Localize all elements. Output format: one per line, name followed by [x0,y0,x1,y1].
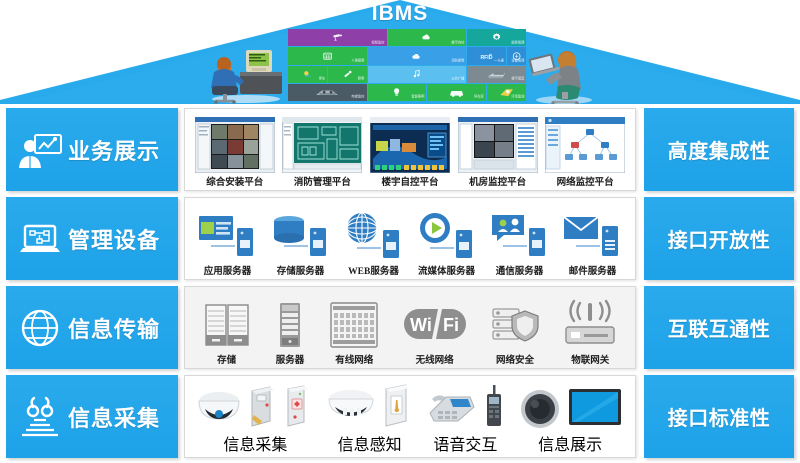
device-set [518,377,623,431]
sidebar-item-business-display[interactable]: 业务展示 [6,108,178,191]
person-with-laptop-illustration [520,42,604,104]
item-caption: 存储 [217,352,236,366]
item-caption: 网络安全 [496,352,534,366]
item-art [343,210,405,262]
tile-fire-alarm[interactable]: 消防报警 [368,47,467,64]
svg-text:Fi: Fi [443,315,459,335]
desk-phone-icon [426,383,478,431]
cloud-fill-icon [387,51,446,61]
group-voice-interaction[interactable]: 语音交互 [426,377,505,455]
panel-business-display: 综合安装平台 [184,108,636,191]
tile-building-automation[interactable]: 楼宇自控 [388,29,467,46]
tile-device-management[interactable]: 设备管理 [507,47,526,64]
item-caption: 服务器 [276,352,305,366]
device-set [426,377,505,431]
tile-label: 照明 [358,79,364,82]
layer-row-information-transmission: 信息传输 [0,286,800,369]
laptop-network-icon [16,215,64,263]
tile-building-model[interactable]: 楼宇模型 [467,66,526,83]
feature-card-standard-interface[interactable]: 接口标准性 [644,375,794,458]
layer-row-information-collection: 信息采集 [0,375,800,458]
group-caption: 信息展示 [538,431,602,455]
item-caption: 综合安装平台 [206,174,263,188]
building-icon [479,69,514,79]
item-caption: 存储服务器 [277,263,325,277]
dome-camera-icon [197,383,241,431]
item-caption: 有线网络 [335,352,373,366]
item-datacenter-monitoring-platform[interactable]: 机房监控平台 [458,113,538,188]
tile-label: 停车 [318,79,324,82]
tile-label: 电梯监控 [352,97,365,100]
tile-smart-lighting[interactable]: 智能照明 [368,84,427,101]
database-cylinder-icon [270,210,332,262]
tile-video-surveillance[interactable]: 视频监控 [288,29,387,46]
item-art [489,299,541,351]
smoke-detector-icon [326,383,376,431]
feature-label: 高度集成性 [668,135,771,164]
parking-icon [296,69,319,79]
tile-parking-garage[interactable]: 停车库 [427,84,486,101]
group-caption: 语音交互 [433,431,497,455]
item-art [416,210,478,262]
item-caption: 应用服务器 [204,263,252,277]
tile-intrusion-alarm[interactable]: 人侵报警 [288,47,367,64]
feature-card-open-interface[interactable]: 接口开放性 [644,197,794,280]
tile-energy-management[interactable]: 能耗管理 [467,29,526,46]
tile-one-card[interactable]: RFID 一卡通 [467,47,506,64]
item-wired-network[interactable]: 有线网络 [328,291,380,366]
item-art [270,210,332,262]
item-caption: WEB服务器 [348,263,399,277]
tile-label: 人侵报警 [352,60,365,63]
item-caption: 网络监控平台 [557,174,614,188]
item-art [545,117,625,173]
item-iot-gateway[interactable]: 物联网关 [562,291,618,366]
datacenter-screenshot [458,117,538,173]
tile-environment-monitoring[interactable]: 环境监测 [487,84,526,101]
group-information-collection[interactable]: 信息采集 [197,377,313,455]
globe-icon [343,210,405,262]
item-caption: 机房监控平台 [469,174,526,188]
group-caption: 信息采集 [223,431,287,455]
envelope-icon [562,210,624,262]
gear-icon [479,32,514,42]
svg-text:RFID: RFID [480,54,492,60]
tile-parking[interactable]: 停车 [288,66,327,83]
device-set [326,377,413,431]
tile-label: 智能照明 [411,97,424,100]
group-caption: 信息感知 [338,431,402,455]
sidebar-item-label: 管理设备 [68,223,160,255]
item-art [202,299,252,351]
item-caption: 楼宇自控平台 [381,174,438,188]
panel-information-collection: 信息采集 [184,375,636,458]
tile-lighting[interactable]: 照明 [328,66,367,83]
group-information-display[interactable]: 信息展示 [518,377,623,455]
layer-row-business-display: 业务展示 [0,108,800,191]
item-caption: 邮件服务器 [569,263,617,277]
card-reader-icon [246,383,278,431]
item-caption: 流媒体服务器 [418,263,475,277]
tile-label: 公共广播 [451,79,464,82]
item-network-security[interactable]: 网络安全 [489,291,541,366]
tile-elevator-monitoring[interactable]: 电梯监控 [288,84,367,101]
tile-label: 楼宇自控 [451,42,464,45]
shield-server-icon [489,299,541,351]
escalator-icon [304,87,351,97]
video-wall-screenshot [195,117,275,173]
item-caption: 消防管理平台 [294,174,351,188]
camera-icon [308,32,367,42]
item-caption: 无线网络 [416,352,454,366]
car-icon [439,87,474,97]
person-at-desktop-computer-illustration [192,42,288,104]
gateway-antenna-icon [562,299,618,351]
light-icon [336,69,359,79]
network-topology-screenshot [545,117,625,173]
application-window-icon [197,210,259,262]
item-art [458,117,538,173]
panel-management-devices: 应用服务器 存储服务器 [184,197,636,280]
feature-label: 接口标准性 [668,402,771,431]
feature-label: 接口开放性 [668,224,771,253]
tile-label: 楼宇模型 [511,79,524,82]
tile-label: 停车库 [474,97,484,100]
tile-label: 消防报警 [451,60,464,63]
layers-grid: 业务展示 [0,106,800,463]
item-communication-server[interactable]: 通信服务器 [489,202,551,277]
globe-grid-icon [16,304,64,352]
item-fire-management-platform[interactable]: 消防管理平台 [282,113,362,188]
server-tower-icon [273,299,307,351]
cloud-icon [403,32,450,42]
display-monitor-icon [567,383,623,431]
sidebar-item-label: 业务展示 [68,134,160,166]
tile-public-broadcast[interactable]: 公共广播 [368,66,467,83]
layer-row-management-devices: 管理设备 应用服务器 [0,197,800,280]
sidebar-item-management-devices[interactable]: 管理设备 [6,197,178,280]
sidebar-item-information-collection[interactable]: 信息采集 [6,375,178,458]
svg-text:Wi: Wi [410,315,432,335]
sidebar-item-information-transmission[interactable]: 信息传输 [6,286,178,369]
switch-rack-icon [328,299,380,351]
item-caption: 通信服务器 [496,263,544,277]
item-art [282,117,362,173]
roof-banner: IBMS [0,0,800,104]
tile-label: 设备管理 [511,60,524,63]
music-icon [387,69,446,79]
panel-information-transmission: 存储 服务器 [184,286,636,369]
storage-array-icon [202,299,252,351]
item-integrated-installation-platform[interactable]: 综合安装平台 [195,113,275,188]
fire-cad-screenshot [282,117,362,173]
grid-icon [304,51,351,61]
speaker-icon [518,383,562,431]
tile-label: 视频监控 [372,42,385,45]
emergency-button-icon [283,383,313,431]
item-art: Wi Fi [402,299,468,351]
item-storage[interactable]: 存储 [202,291,252,366]
item-art [195,117,275,173]
item-web-server[interactable]: WEB服务器 [343,202,405,277]
play-circle-icon [416,210,478,262]
bulb-icon [379,87,414,97]
item-wireless-network[interactable]: Wi Fi 无线网络 [402,291,468,366]
sidebar-item-label: 信息传输 [68,312,160,344]
item-art [489,210,551,262]
item-caption: 物联网关 [571,352,609,366]
application-tile-grid: 视频监控 楼宇自控 能耗管理 人侵报警 消防 [288,29,526,101]
sensor-stack-icon [16,393,64,441]
item-art [273,299,307,351]
feature-label: 互联互通性 [668,313,771,342]
item-art [197,210,259,262]
chat-people-icon [489,210,551,262]
feature-card-high-integration[interactable]: 高度集成性 [644,108,794,191]
presentation-chart-icon [16,126,64,174]
item-art [328,299,380,351]
item-server[interactable]: 服务器 [273,291,307,366]
item-building-automation-platform[interactable]: 楼宇自控平台 [370,113,450,188]
device-set [197,377,313,431]
tile-label: 一卡通 [494,60,504,63]
item-art [562,299,618,351]
system-title: IBMS [0,2,800,26]
item-application-server[interactable]: 应用服务器 [197,202,259,277]
item-streaming-media-server[interactable]: 流媒体服务器 [416,202,478,277]
walkie-talkie-icon [483,383,505,431]
temperature-switch-icon [381,383,413,431]
item-art [562,210,624,262]
item-storage-server[interactable]: 存储服务器 [270,202,332,277]
feature-card-interconnectivity[interactable]: 互联互通性 [644,286,794,369]
tile-label: 环境监测 [511,97,524,100]
item-network-monitoring-platform[interactable]: 网络监控平台 [545,113,625,188]
wifi-badge-icon: Wi Fi [402,299,468,351]
sidebar-item-label: 信息采集 [68,401,160,433]
group-information-sensing[interactable]: 信息感知 [326,377,413,455]
item-mail-server[interactable]: 邮件服务器 [562,202,624,277]
item-art [370,117,450,173]
bms-dashboard-screenshot [370,117,450,173]
tile-label: 能耗管理 [511,42,524,45]
